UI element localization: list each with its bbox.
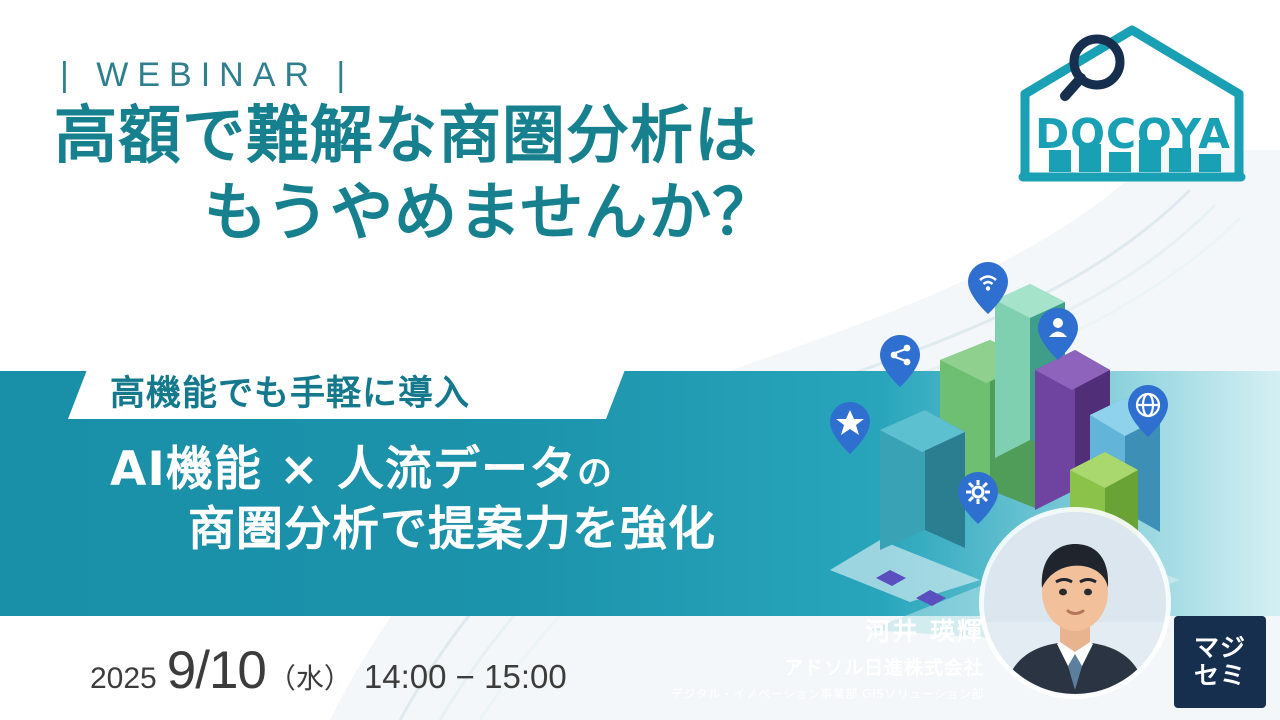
majisemi-line-1: マジ — [1194, 634, 1246, 662]
majisemi-line-2: セミ — [1194, 662, 1246, 690]
speaker-name: 河井 瑛輝 — [664, 612, 984, 648]
subtitle: AI機能 × 人流データの 商圏分析で提案力を強化 — [110, 440, 930, 560]
title-line-1: 高額で難解な商圏分析は — [54, 98, 934, 175]
subtitle-line-1-tail: の — [577, 454, 613, 494]
date-month-day: 9/10 — [167, 640, 266, 701]
speaker-info: 河井 瑛輝 アドソル日進株式会社 デジタル・イノベーション事業部 GISソリュー… — [664, 612, 984, 702]
date-year: 2025 — [90, 662, 157, 696]
date-day-of-week: （水） — [268, 657, 352, 697]
webinar-banner: | WEBINAR | 高額で難解な商圏分析は もうやめませんか？ 高機能でも手… — [0, 0, 1280, 720]
event-date: 2025 9/10 （水） 14:00 − 15:00 — [90, 640, 567, 701]
page-title: 高額で難解な商圏分析は もうやめませんか？ — [54, 98, 934, 252]
webinar-kicker: | WEBINAR | — [60, 56, 354, 95]
date-time-range: 14:00 − 15:00 — [364, 658, 567, 696]
ribbon-banner: 高機能でも手軽に導入 — [68, 362, 628, 419]
subtitle-line-2: 商圏分析で提案力を強化 — [188, 500, 930, 560]
speaker-portrait-illustration — [984, 512, 1166, 694]
title-line-2: もうやめませんか？ — [204, 175, 934, 252]
subtitle-line-1-main: AI機能 × 人流データ — [110, 442, 577, 497]
docoya-wordmark: DOCOYA — [1019, 110, 1247, 158]
speaker-company: アドソル日進株式会社 — [664, 653, 984, 680]
speaker-department: デジタル・イノベーション事業部 GISソリューション部 — [664, 685, 984, 702]
majisemi-logo: マジ セミ — [1174, 616, 1266, 708]
ribbon-label: 高機能でも手軽に導入 — [110, 365, 470, 416]
subtitle-line-1: AI機能 × 人流データの — [110, 440, 930, 500]
docoya-logo: DOCOYA — [1015, 22, 1250, 197]
avatar — [984, 512, 1166, 694]
